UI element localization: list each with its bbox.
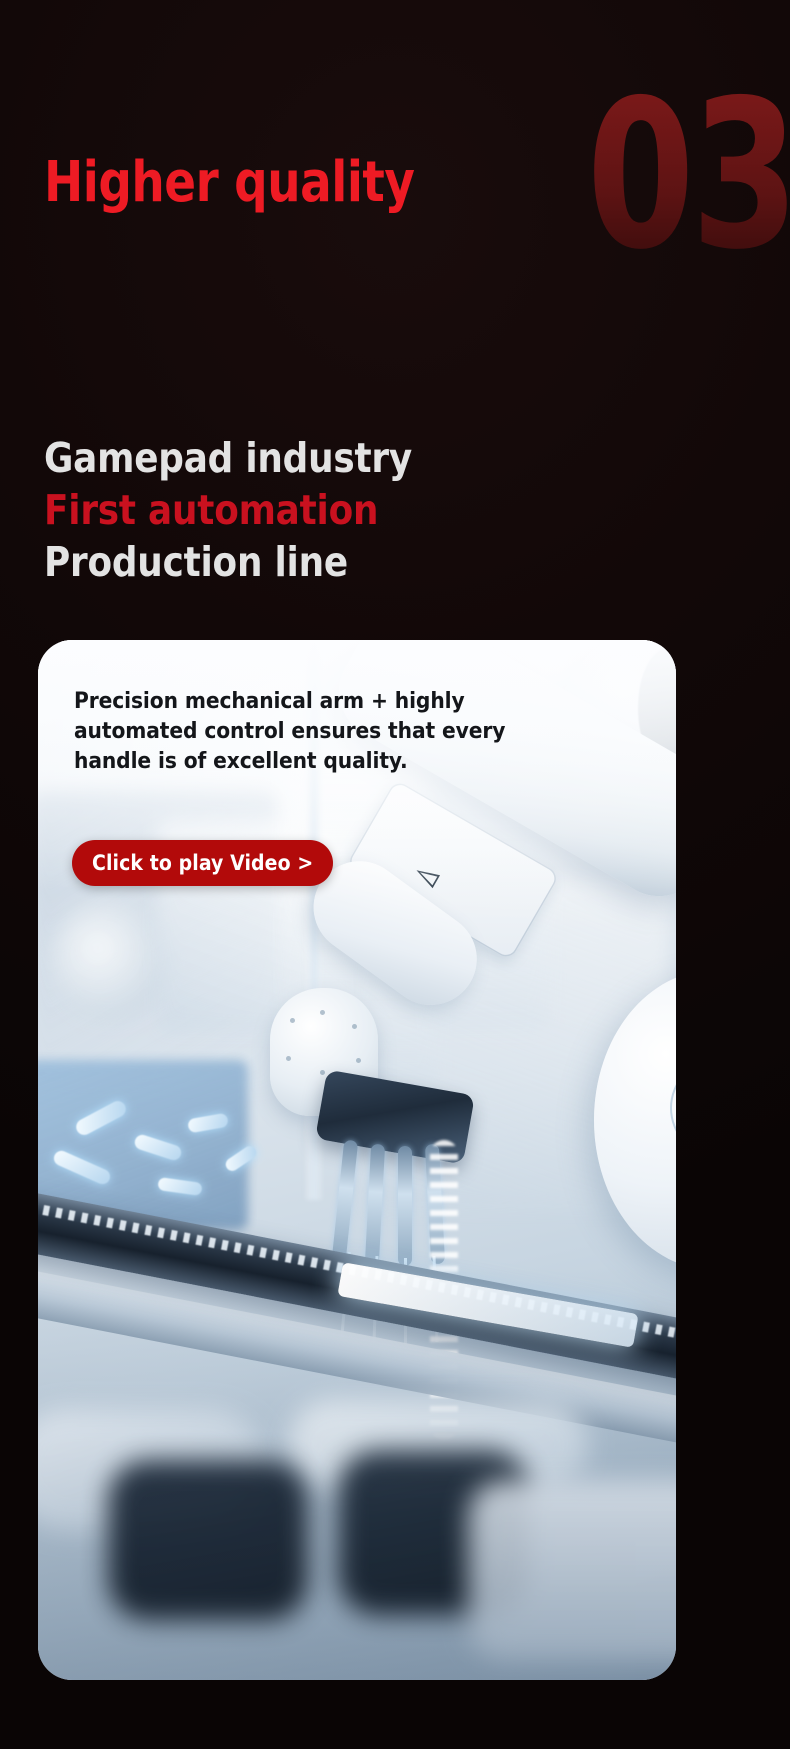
heading-line-1: Gamepad industry xyxy=(44,432,412,484)
section-heading: Gamepad industry First automation Produc… xyxy=(44,432,412,588)
factory-robot-arm-image: ◅ xyxy=(38,640,676,1680)
video-card[interactable]: ◅ xyxy=(38,640,676,1680)
section-kicker: Higher quality xyxy=(44,155,414,211)
promo-section: 03 Higher quality Gamepad industry First… xyxy=(0,0,790,1749)
heading-line-3: Production line xyxy=(44,536,412,588)
card-description: Precision mechanical arm + highly automa… xyxy=(74,686,554,776)
section-number-watermark: 03 xyxy=(587,86,790,266)
play-video-button[interactable]: Click to play Video > xyxy=(72,840,333,886)
heading-line-2: First automation xyxy=(44,484,412,536)
